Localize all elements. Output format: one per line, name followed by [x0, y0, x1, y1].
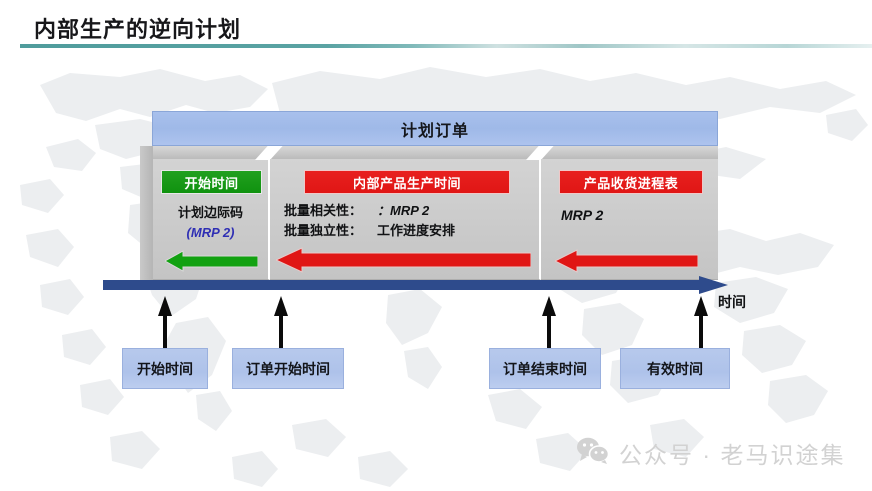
- internal-production-panel-header: 内部产品生产时间: [304, 170, 510, 194]
- timeline-box-valid-time: 有效时间: [620, 348, 730, 389]
- goods-receipt-panel-header: 产品收货进程表: [559, 170, 703, 194]
- start-time-line-1: 计划边际码: [153, 203, 268, 223]
- watermark: 公众号 · 老马识途集: [577, 436, 845, 470]
- internal-production-panel-body: 批量相关性： ：MRP 2 批量独立性： 工作进度安排: [284, 201, 553, 241]
- start-time-left-arrow: [165, 250, 258, 272]
- internal-production-time-panel: 内部产品生产时间 批量相关性： ：MRP 2 批量独立性： 工作进度安排: [270, 159, 541, 280]
- planned-order-label: 计划订单: [401, 117, 469, 141]
- timeline-box-order-start-time: 订单开始时间: [232, 348, 344, 389]
- lot-independent-value: 工作进度安排: [377, 221, 455, 241]
- start-time-line-2: (MRP 2): [153, 223, 268, 243]
- goods-receipt-schedule-panel: 产品收货进程表 MRP 2: [541, 159, 718, 280]
- lot-independent-key: 批量独立性：: [284, 221, 377, 241]
- reverse-scheduling-diagram: 计划订单 开始时间 计划边际码 (MRP 2): [0, 0, 872, 491]
- lot-dependent-key: 批量相关性：: [284, 201, 377, 221]
- start-time-panel-header: 开始时间: [161, 170, 262, 194]
- slide-canvas: 内部生产的逆向计划 计划订单 开始时间 计划边际码 (MRP 2): [0, 0, 872, 491]
- goods-receipt-panel-body: MRP 2: [561, 205, 738, 225]
- timeline-box-order-end-time: 订单结束时间: [489, 348, 601, 389]
- marker-up-arrow-order-end-time: [541, 296, 557, 352]
- marker-up-arrow-order-start-time: [273, 296, 289, 352]
- wechat-icon: [577, 437, 609, 469]
- panel-left-bevel: [140, 146, 153, 280]
- start-time-panel: 开始时间 计划边际码 (MRP 2): [153, 159, 270, 280]
- start-time-panel-body: 计划边际码 (MRP 2): [153, 199, 268, 243]
- timeline-axis: [103, 276, 728, 294]
- goods-receipt-left-arrow: [555, 249, 698, 273]
- watermark-text: 公众号 · 老马识途集: [619, 436, 845, 470]
- panel-group: 开始时间 计划边际码 (MRP 2) 内部产品生产时间 批量相关性：: [140, 146, 718, 280]
- goods-receipt-line-1: MRP 2: [561, 205, 738, 225]
- timeline-box-start-time: 开始时间: [122, 348, 208, 389]
- marker-up-arrow-valid-time: [693, 296, 709, 352]
- lot-independent-row: 批量独立性： 工作进度安排: [284, 221, 553, 241]
- marker-up-arrow-start-time: [157, 296, 173, 352]
- internal-production-left-arrow: [276, 247, 531, 273]
- lot-dependent-row: 批量相关性： ：MRP 2: [284, 201, 553, 221]
- planned-order-header: 计划订单: [152, 111, 718, 146]
- lot-dependent-value: ：MRP 2: [377, 201, 429, 221]
- timeline-axis-label: 时间: [718, 292, 746, 312]
- panel-top-bevel: [140, 146, 718, 160]
